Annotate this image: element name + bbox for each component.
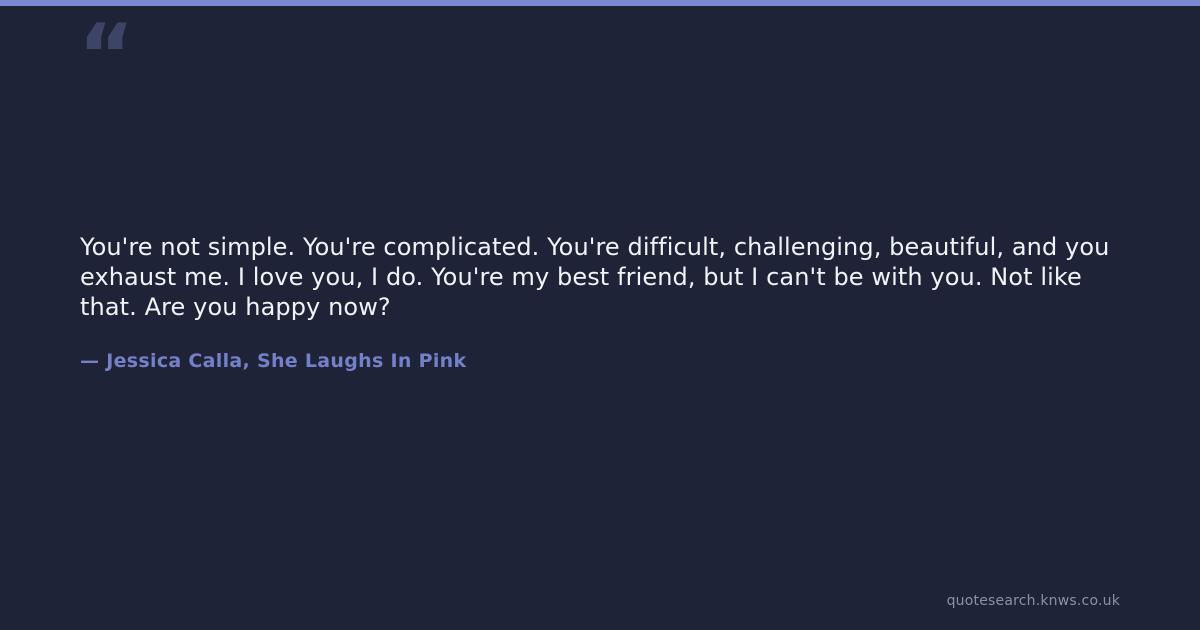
open-quote-icon: “ [78,13,133,99]
top-accent-bar [0,0,1200,6]
quote-card: “ You're not simple. You're complicated.… [0,0,1200,630]
attribution-author-source: Jessica Calla, She Laughs In Pink [106,350,466,372]
quote-body: You're not simple. You're complicated. Y… [80,232,1120,374]
site-watermark: quotesearch.knws.co.uk [947,593,1120,609]
quote-attribution: — Jessica Calla, She Laughs In Pink [80,322,1120,374]
attribution-dash: — [80,350,99,372]
quote-text: You're not simple. You're complicated. Y… [80,232,1110,322]
